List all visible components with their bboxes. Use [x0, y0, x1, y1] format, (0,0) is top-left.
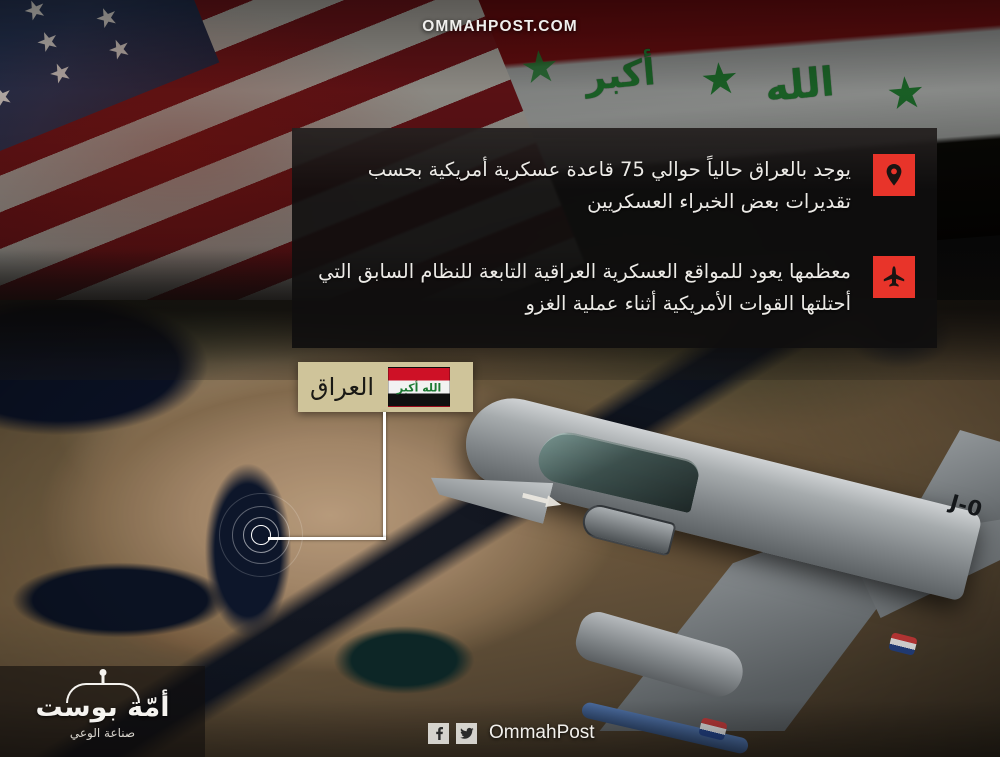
iraq-country-label: الله أكبر العراق — [298, 362, 473, 412]
logo-arc-icon — [66, 683, 140, 703]
info-row-text-2: معظمها يعود للمواقع العسكرية العراقية ال… — [306, 256, 851, 319]
facebook-icon[interactable] — [428, 723, 449, 744]
info-row-bases-count: يوجد بالعراق حالياً حوالي 75 قاعدة عسكري… — [306, 154, 915, 217]
f16-fighter-jet: J-0 — [430, 420, 1000, 757]
twitter-icon[interactable] — [456, 723, 477, 744]
ommahpost-logo: أمّة بوست صناعة الوعي — [0, 666, 205, 757]
map-pin-icon — [873, 154, 915, 196]
logo-tagline: صناعة الوعي — [70, 726, 135, 740]
info-panel: يوجد بالعراق حالياً حوالي 75 قاعدة عسكري… — [292, 128, 937, 348]
social-links: OmmahPost — [428, 722, 595, 744]
iraq-flag-script: الله أكبر — [389, 381, 449, 394]
info-row-text-1: يوجد بالعراق حالياً حوالي 75 قاعدة عسكري… — [306, 154, 851, 217]
callout-line-vertical — [383, 412, 386, 540]
social-handle: OmmahPost — [489, 722, 595, 744]
jet-roundel-1 — [888, 632, 918, 656]
site-url: OMMAHPOST.COM — [0, 18, 1000, 36]
marker-ring-inner — [251, 525, 271, 545]
iraq-label-text: العراق — [310, 373, 374, 401]
iraq-flag-icon: الله أكبر — [388, 367, 450, 407]
fighter-jet-icon — [873, 256, 915, 298]
info-row-former-regime-sites: معظمها يعود للمواقع العسكرية العراقية ال… — [306, 256, 915, 319]
infographic-canvas: الله أكبر ★ ★ ★ ★ ★ ★ ★★ ★ ★ ★★ ★ ★ ★★ ★… — [0, 0, 1000, 757]
